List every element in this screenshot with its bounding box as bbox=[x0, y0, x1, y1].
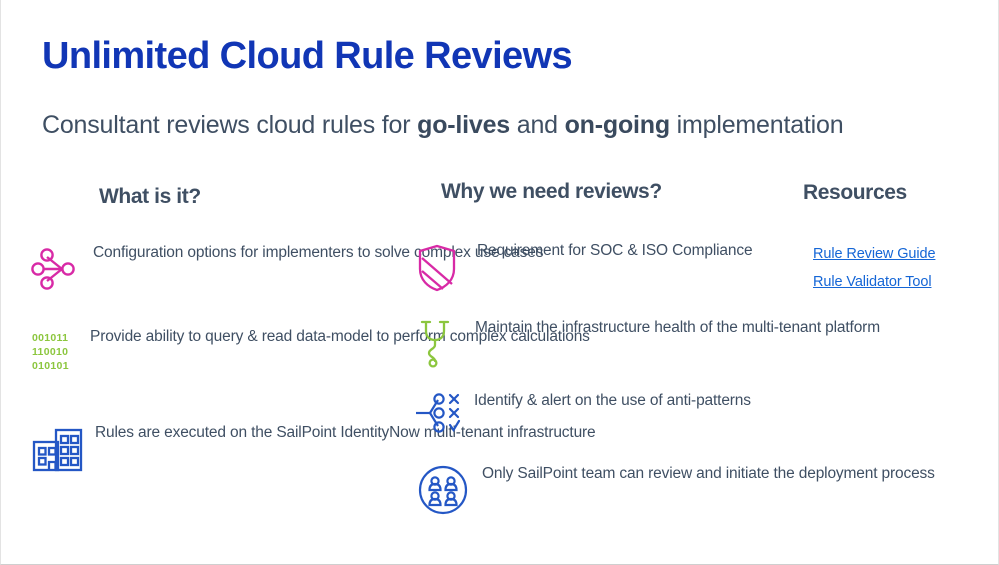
list-item-text: Maintain the infrastructure health of th… bbox=[475, 318, 880, 339]
column-heading-resources: Resources bbox=[803, 181, 907, 205]
list-item: Maintain the infrastructure health of th… bbox=[415, 318, 880, 368]
shield-icon bbox=[413, 243, 461, 293]
binary-row: 010101 bbox=[32, 360, 84, 374]
binary-row: 110010 bbox=[32, 346, 84, 360]
page-subtitle: Consultant reviews cloud rules for go-li… bbox=[42, 110, 843, 141]
list-item-text: Requirement for SOC & ISO Compliance bbox=[477, 241, 752, 262]
stethoscope-icon bbox=[415, 318, 461, 368]
subtitle-part-3: implementation bbox=[670, 111, 843, 139]
link-rule-validator-tool[interactable]: Rule Validator Tool bbox=[813, 274, 931, 290]
link-rule-review-guide[interactable]: Rule Review Guide bbox=[813, 246, 935, 262]
team-circle-icon bbox=[417, 464, 469, 516]
column-heading-why-we-need-reviews: Why we need reviews? bbox=[441, 180, 662, 204]
page-title: Unlimited Cloud Rule Reviews bbox=[42, 36, 572, 78]
subtitle-bold-go-lives: go-lives bbox=[417, 111, 510, 139]
list-item-text: Only SailPoint team can review and initi… bbox=[482, 464, 935, 485]
list-item: Identify & alert on the use of anti-patt… bbox=[414, 391, 751, 435]
subtitle-part-2: and bbox=[510, 111, 565, 139]
list-item: Only SailPoint team can review and initi… bbox=[417, 464, 935, 516]
building-icon bbox=[31, 426, 85, 473]
binary-code-icon: 001011 110010 010101 bbox=[32, 332, 84, 374]
column-heading-what-is-it: What is it? bbox=[99, 185, 201, 209]
list-item: Requirement for SOC & ISO Compliance bbox=[413, 241, 752, 293]
binary-row: 001011 bbox=[32, 332, 84, 346]
branch-check-x-icon bbox=[414, 391, 464, 435]
node-network-icon bbox=[31, 245, 83, 293]
subtitle-part-1: Consultant reviews cloud rules for bbox=[42, 111, 417, 139]
list-item-text: Identify & alert on the use of anti-patt… bbox=[474, 391, 751, 412]
subtitle-bold-on-going: on-going bbox=[565, 111, 670, 139]
slide-canvas: Unlimited Cloud Rule Reviews Consultant … bbox=[0, 0, 999, 565]
